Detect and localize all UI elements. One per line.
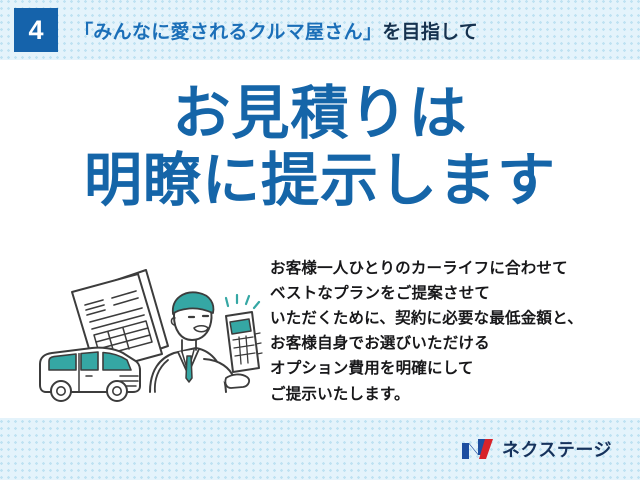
header-title: 「みんなに愛されるクルマ屋さん」を目指して: [74, 17, 478, 44]
body-copy-line: お客様自身でお選びいただける: [270, 331, 630, 356]
sparkle-icon: [226, 295, 259, 308]
illustration-svg: [28, 260, 268, 420]
header-title-quoted: 「みんなに愛されるクルマ屋さん」: [74, 22, 382, 43]
van-illustration: [40, 348, 140, 401]
body-copy-line: ご提示いたします。: [270, 382, 630, 407]
slide-footer: ネクステージ: [0, 418, 640, 480]
body-copy-line: ベストなプランをご提案させて: [270, 281, 630, 306]
nextage-n-logo-icon: [461, 437, 495, 461]
illustration: [28, 260, 268, 420]
body-copy: お客様一人ひとりのカーライフに合わせて ベストなプランをご提案させて いただくた…: [270, 256, 630, 407]
step-number-badge: 4: [14, 8, 58, 52]
body-copy-line: オプション費用を明確にして: [270, 356, 630, 381]
headline-line-1: お見積りは: [0, 80, 640, 147]
body-copy-line: いただくために、契約に必要な最低金額と、: [270, 306, 630, 331]
calculator-illustration: [226, 312, 262, 372]
slide-header: 4 「みんなに愛されるクルマ屋さん」を目指して: [0, 0, 640, 60]
content-panel: お見積りは 明瞭に提示します お客様一人ひとりのカーライフに合わせて ベストなプ…: [0, 60, 640, 418]
brand-name: ネクステージ: [502, 436, 612, 462]
header-title-tail: を目指して: [382, 22, 478, 43]
brand-logo: ネクステージ: [461, 436, 612, 462]
headline: お見積りは 明瞭に提示します: [0, 80, 640, 215]
headline-line-2: 明瞭に提示します: [0, 147, 640, 214]
promo-slide: 4 「みんなに愛されるクルマ屋さん」を目指して お見積りは 明瞭に提示します お…: [0, 0, 640, 480]
body-copy-line: お客様一人ひとりのカーライフに合わせて: [270, 256, 630, 281]
